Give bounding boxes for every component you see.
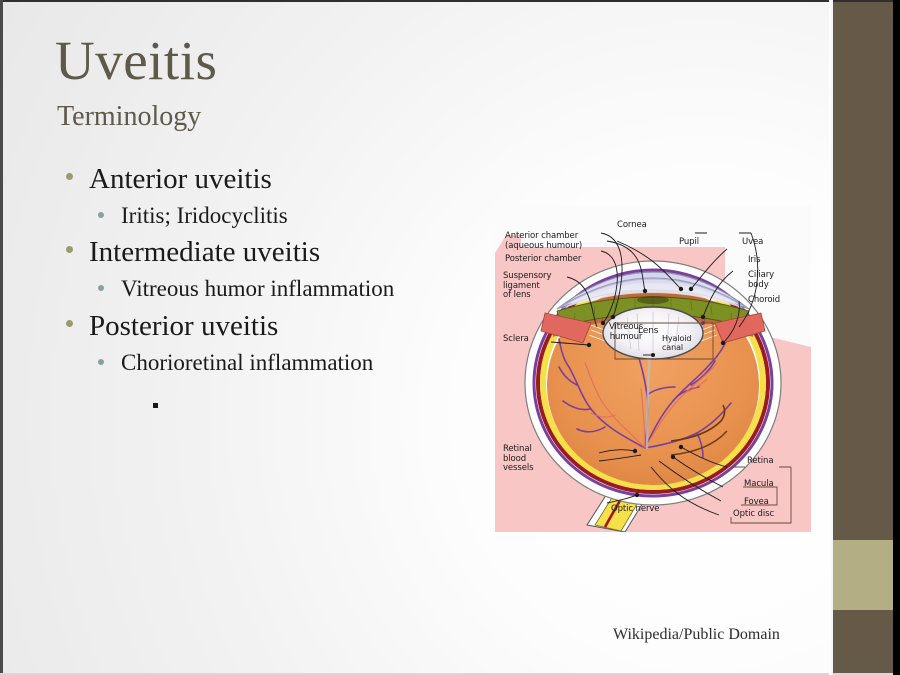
label-fovea: Fovea	[744, 498, 769, 508]
page-subtitle: Terminology	[57, 103, 201, 131]
slide-border-left	[0, 0, 3, 675]
label-optic-nerve: Optic nerve	[611, 505, 659, 515]
label-uvea: Uvea	[742, 238, 763, 248]
bullet-level1: Anterior uveitis	[58, 160, 498, 199]
bullet-list: Anterior uveitis Iritis; Iridocyclitis I…	[58, 160, 498, 380]
label-pupil: Pupil	[679, 238, 699, 248]
bullet-level2: Chorioretinal inflammation	[58, 347, 498, 379]
sub-bullet-dot-icon	[98, 212, 104, 218]
sub-bullet-dot-icon	[98, 359, 104, 365]
label-iris: Iris	[748, 256, 760, 266]
bullet-text: Vitreous humor inflammation	[121, 276, 394, 301]
bullet-text: Iritis; Iridocyclitis	[121, 203, 288, 228]
label-cornea: Cornea	[617, 221, 647, 231]
bullet-text: Posterior uveitis	[89, 310, 278, 342]
page-title: Uveitis	[55, 33, 217, 88]
sub-bullet-dot-icon	[98, 285, 104, 291]
eye-anatomy-diagram: Anterior chamber (aqueous humour) Poster…	[495, 205, 811, 532]
label-suspensory-ligament: Suspensory ligament of lens	[503, 272, 551, 301]
slide-border-right	[893, 0, 900, 675]
label-choroid: Choroid	[748, 296, 780, 306]
image-credit: Wikipedia/Public Domain	[613, 626, 780, 644]
slide-border-top	[0, 0, 900, 2]
presentation-slide: Uveitis Terminology Anterior uveitis Iri…	[0, 0, 900, 675]
bullet-level1: Posterior uveitis	[58, 307, 498, 346]
bullet-dot-icon	[66, 246, 73, 253]
label-posterior-chamber: Posterior chamber	[505, 255, 581, 265]
bullet-text: Anterior uveitis	[89, 163, 272, 195]
bullet-level2: Vitreous humor inflammation	[58, 273, 498, 305]
label-retina: Retina	[747, 457, 773, 467]
label-vitreous-humour: Vitreous humour	[609, 323, 643, 342]
label-macula: Macula	[744, 480, 774, 490]
bullet-dot-icon	[66, 173, 73, 180]
sidebar-accent-block	[833, 540, 893, 610]
label-anterior-chamber: Anterior chamber (aqueous humour)	[505, 232, 582, 251]
bullet-dot-icon	[66, 320, 73, 327]
bullet-level2: Iritis; Iridocyclitis	[58, 200, 498, 232]
label-sclera: Sclera	[503, 335, 529, 345]
bullet-text: Intermediate uveitis	[89, 236, 320, 268]
label-hyaloid-canal: Hyaloid canal	[662, 335, 691, 353]
bullet-level1: Intermediate uveitis	[58, 233, 498, 272]
label-optic-disc: Optic disc	[733, 510, 774, 520]
bullet-text: Chorioretinal inflammation	[121, 350, 373, 375]
label-ciliary-body: Ciliary body	[748, 271, 774, 290]
stray-period-mark	[153, 403, 158, 408]
label-retinal-blood-vessels: Retinal blood vessels	[503, 445, 533, 474]
